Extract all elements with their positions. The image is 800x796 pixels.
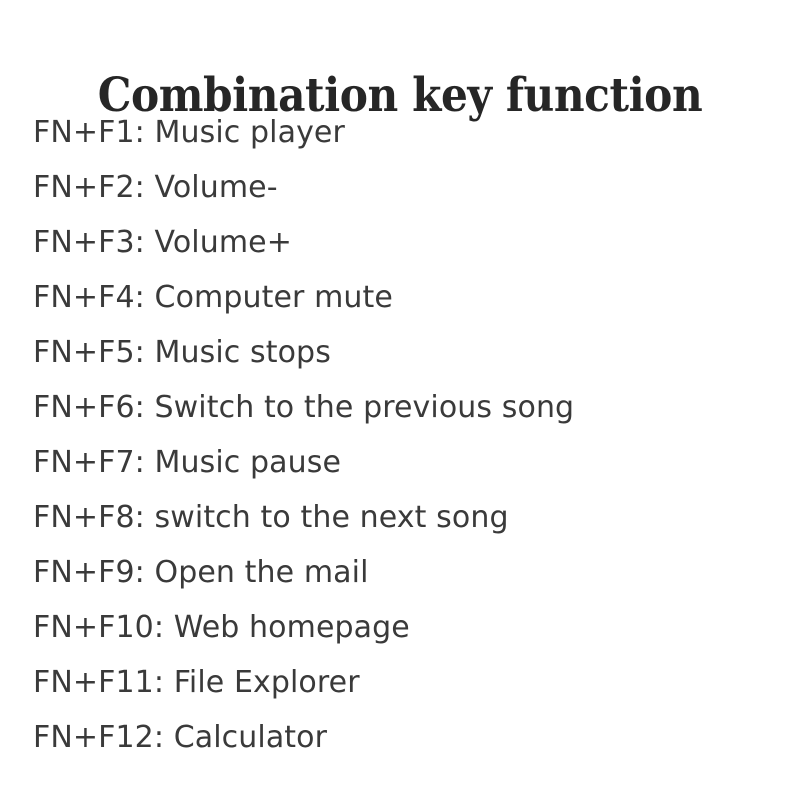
list-item: FN+F4: Computer mute xyxy=(33,278,773,333)
list-item: FN+F8: switch to the next song xyxy=(33,498,773,553)
list-item: FN+F12: Calculator xyxy=(33,718,773,773)
list-item: FN+F5: Music stops xyxy=(33,333,773,388)
list-item: FN+F9: Open the mail xyxy=(33,553,773,608)
list-item: FN+F2: Volume- xyxy=(33,168,773,223)
list-item: FN+F11: File Explorer xyxy=(33,663,773,718)
list-item: FN+F7: Music pause xyxy=(33,443,773,498)
list-item: FN+F6: Switch to the previous song xyxy=(33,388,773,443)
list-item: FN+F1: Music player xyxy=(33,113,773,168)
list-item: FN+F3: Volume+ xyxy=(33,223,773,278)
list-item: FN+F10: Web homepage xyxy=(33,608,773,663)
shortcut-list: FN+F1: Music player FN+F2: Volume- FN+F3… xyxy=(33,113,773,773)
combination-key-function-page: Combination key function FN+F1: Music pl… xyxy=(0,0,800,796)
